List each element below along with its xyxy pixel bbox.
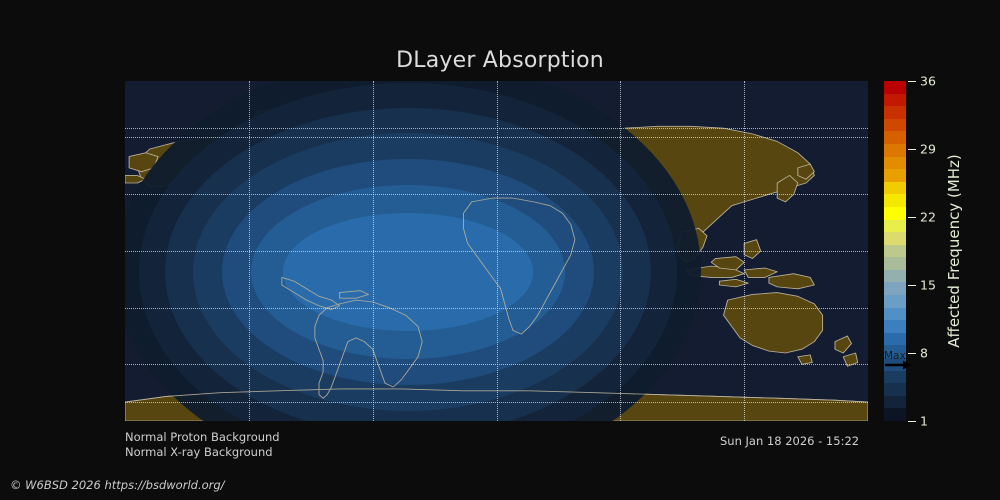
colorbar-band-4 <box>884 358 906 371</box>
colorbar-band-16 <box>884 207 906 220</box>
colorbar-band-0 <box>884 408 906 421</box>
colorbar-tick-15 <box>908 285 916 286</box>
colorbar-band-11 <box>884 270 906 283</box>
colorbar-band-2 <box>884 383 906 396</box>
colorbar-band-9 <box>884 295 906 308</box>
colorbar-band-3 <box>884 371 906 384</box>
colorbar-band-15 <box>884 220 906 233</box>
colorbar-band-10 <box>884 282 906 295</box>
colorbar-band-13 <box>884 245 906 258</box>
colorbar-tick-label-8: 8 <box>920 346 928 361</box>
colorbar-band-21 <box>884 144 906 157</box>
colorbar-band-20 <box>884 157 906 170</box>
colorbar-band-24 <box>884 106 906 119</box>
colorbar-tick-label-1: 1 <box>920 414 928 429</box>
colorbar-tick-label-15: 15 <box>920 278 936 293</box>
colorbar-band-1 <box>884 396 906 409</box>
colorbar-band-19 <box>884 169 906 182</box>
colorbar-tick-22 <box>908 217 916 218</box>
colorbar-band-25 <box>884 94 906 107</box>
colorbar-band-14 <box>884 232 906 245</box>
page-title: DLayer Absorption <box>0 48 1000 73</box>
colorbar-gradient <box>884 81 906 421</box>
timestamp-label: Sun Jan 18 2026 - 15:22 <box>720 434 859 448</box>
colorbar-tick-label-22: 22 <box>920 210 936 225</box>
colorbar[interactable]: 3629221581 <box>884 81 906 421</box>
colorbar-band-8 <box>884 308 906 321</box>
colorbar-axis-label: Affected Frequency (MHz) <box>944 81 964 421</box>
colorbar-band-6 <box>884 333 906 346</box>
colorbar-band-7 <box>884 320 906 333</box>
colorbar-band-23 <box>884 119 906 132</box>
colorbar-tick-29 <box>908 149 916 150</box>
colorbar-tick-36 <box>908 81 916 82</box>
xray-background-note: Normal X-ray Background <box>125 445 273 459</box>
colorbar-axis-label-text: Affected Frequency (MHz) <box>945 154 963 348</box>
colorbar-tick-1 <box>908 421 916 422</box>
colorbar-tick-label-29: 29 <box>920 142 936 157</box>
world-map-panel[interactable] <box>125 81 868 421</box>
proton-background-note: Normal Proton Background <box>125 430 280 444</box>
colorbar-band-17 <box>884 194 906 207</box>
coastline-overlay <box>125 81 868 421</box>
colorbar-band-5 <box>884 345 906 358</box>
colorbar-tick-8 <box>908 353 916 354</box>
credit-label: © W6BSD 2026 https://bsdworld.org/ <box>10 478 225 492</box>
colorbar-tick-label-36: 36 <box>920 74 936 89</box>
colorbar-band-22 <box>884 131 906 144</box>
colorbar-band-26 <box>884 81 906 94</box>
colorbar-band-12 <box>884 257 906 270</box>
colorbar-band-18 <box>884 182 906 195</box>
